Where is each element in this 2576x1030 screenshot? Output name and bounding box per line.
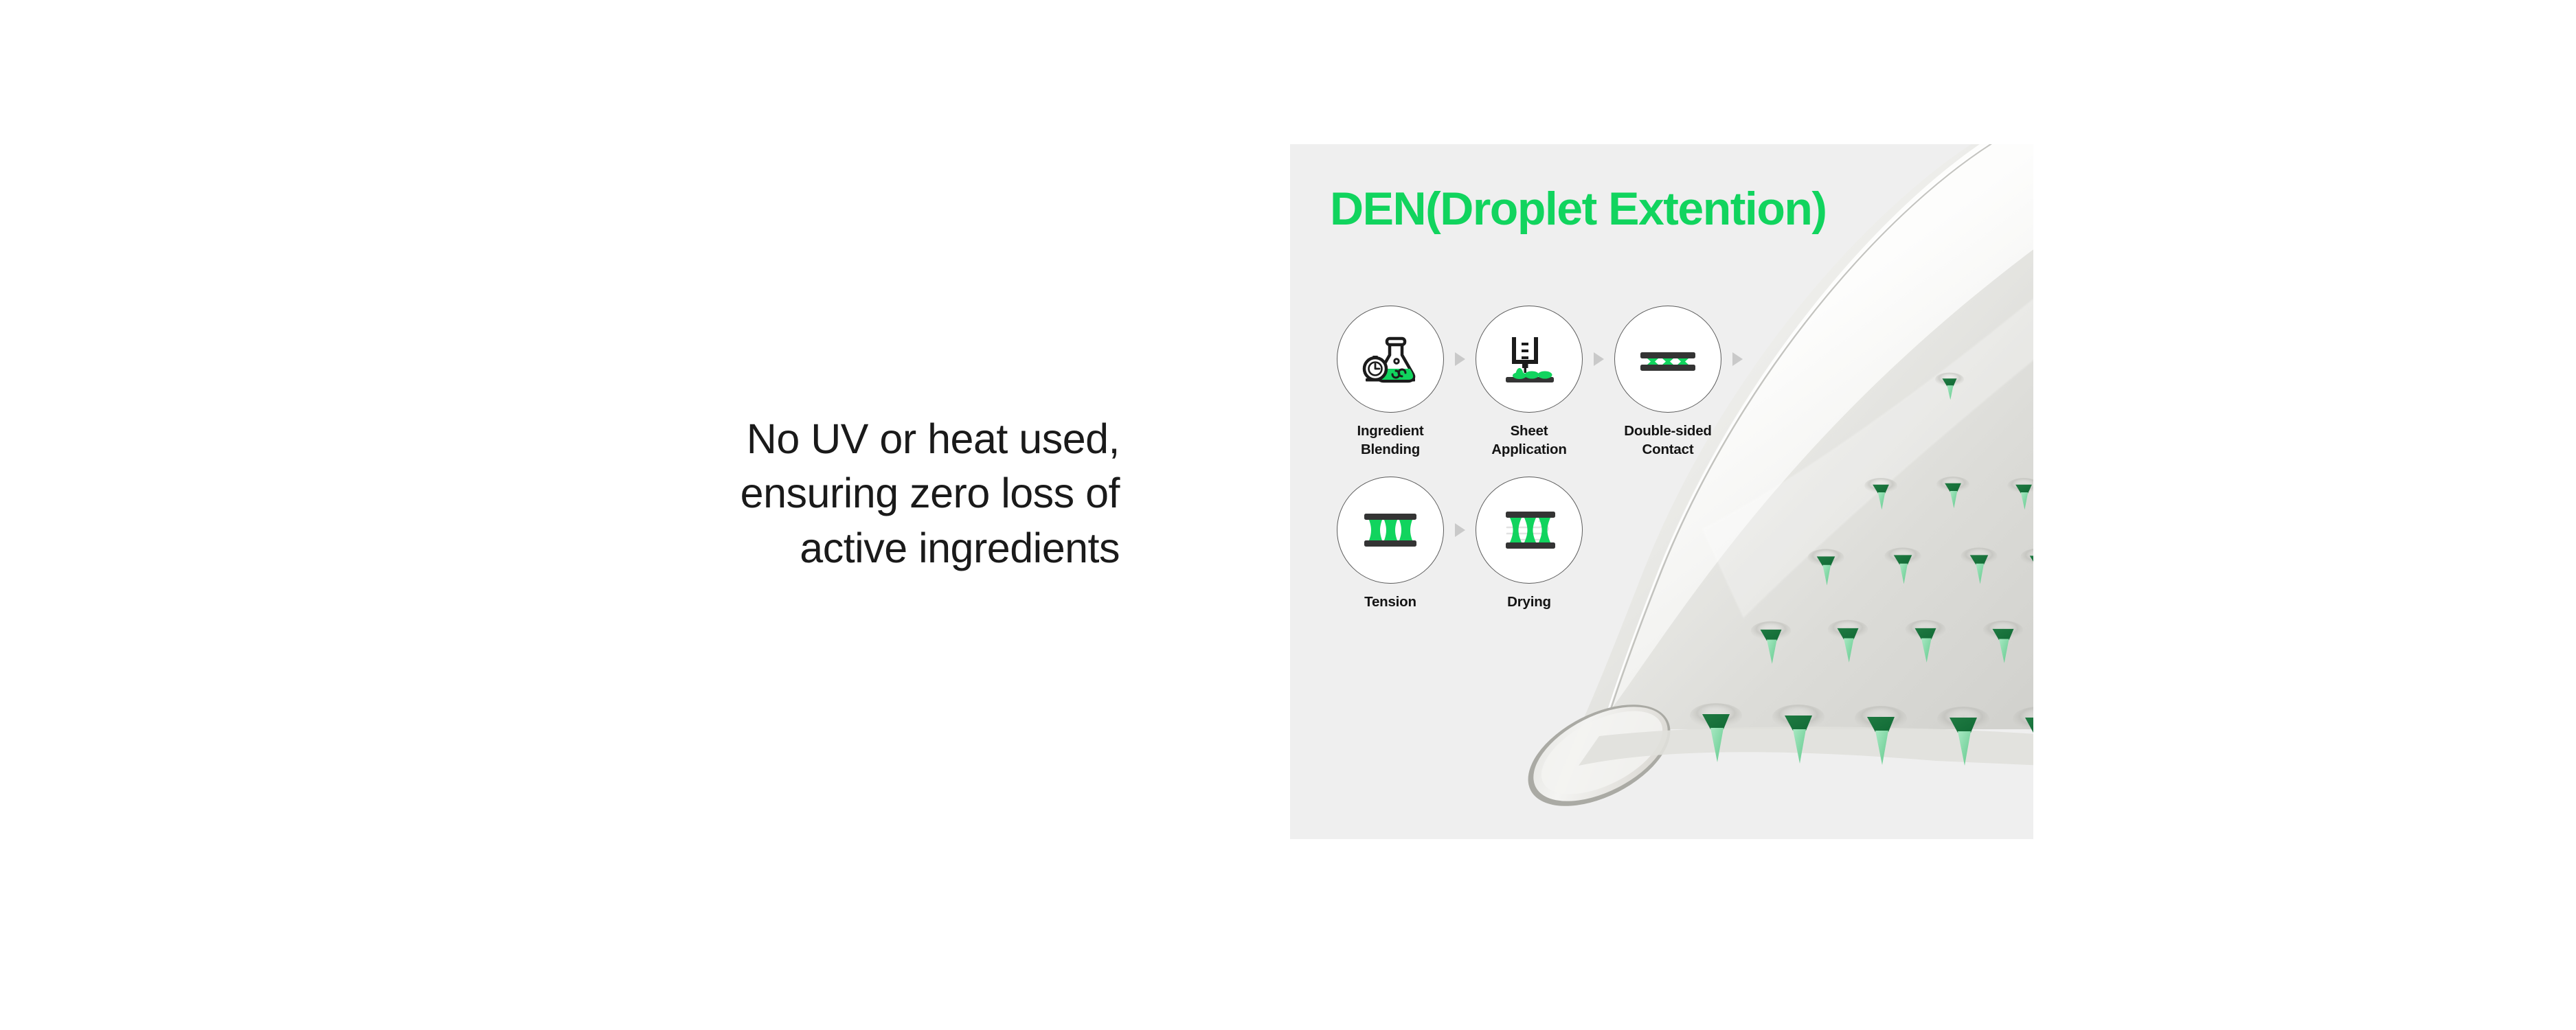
step-label: Tension — [1364, 593, 1416, 611]
den-process-panel: DEN(Droplet Extention) — [1290, 144, 2033, 839]
step-icon-circle — [1614, 306, 1721, 413]
step-label-line-2: Blending — [1361, 442, 1420, 457]
step-label: Ingredient Blending — [1357, 422, 1423, 459]
step-icon-circle — [1337, 306, 1444, 413]
step-label-line-1: Tension — [1364, 594, 1416, 610]
process-steps-row-1: Ingredient Blending — [1333, 306, 1749, 459]
page-title: DEN(Droplet Extention) — [1330, 182, 1827, 236]
flask-timer-icon — [1357, 326, 1423, 392]
step-sheet-application[interactable]: Sheet Application — [1471, 306, 1587, 459]
process-steps: Ingredient Blending — [1333, 306, 1749, 611]
step-arrow-icon — [1448, 306, 1471, 413]
step-label-line-2: Contact — [1642, 442, 1694, 457]
step-icon-circle — [1476, 306, 1583, 413]
step-label-line-1: Drying — [1507, 594, 1551, 610]
step-ingredient-blending[interactable]: Ingredient Blending — [1333, 306, 1448, 459]
step-double-sided-contact[interactable]: Double-sided Contact — [1610, 306, 1726, 459]
step-label: Double-sided Contact — [1624, 422, 1711, 459]
headline-line-1: No UV or heat used, — [536, 412, 1120, 466]
step-icon-circle — [1337, 477, 1444, 584]
plates-tension-icon — [1357, 497, 1423, 563]
dispenser-droplets-icon — [1496, 326, 1562, 392]
step-arrow-icon — [1726, 306, 1749, 413]
step-label-line-1: Ingredient — [1357, 423, 1423, 439]
step-drying[interactable]: Drying — [1471, 477, 1587, 611]
process-steps-row-2: Tension — [1333, 477, 1749, 611]
step-label-line-1: Sheet — [1511, 423, 1548, 439]
headline-line-2: ensuring zero loss of — [536, 466, 1120, 520]
two-plates-contact-icon — [1635, 326, 1701, 392]
step-label: Sheet Application — [1491, 422, 1566, 459]
step-label-line-1: Double-sided — [1624, 423, 1711, 439]
step-arrow-icon — [1448, 477, 1471, 584]
step-label: Drying — [1507, 593, 1551, 611]
step-arrow-icon — [1587, 306, 1610, 413]
step-icon-circle — [1476, 477, 1583, 584]
step-tension[interactable]: Tension — [1333, 477, 1448, 611]
headline-text: No UV or heat used, ensuring zero loss o… — [536, 412, 1120, 575]
step-label-line-2: Application — [1491, 442, 1566, 457]
headline-line-3: active ingredients — [536, 521, 1120, 575]
plates-drying-airflow-icon — [1496, 497, 1562, 563]
